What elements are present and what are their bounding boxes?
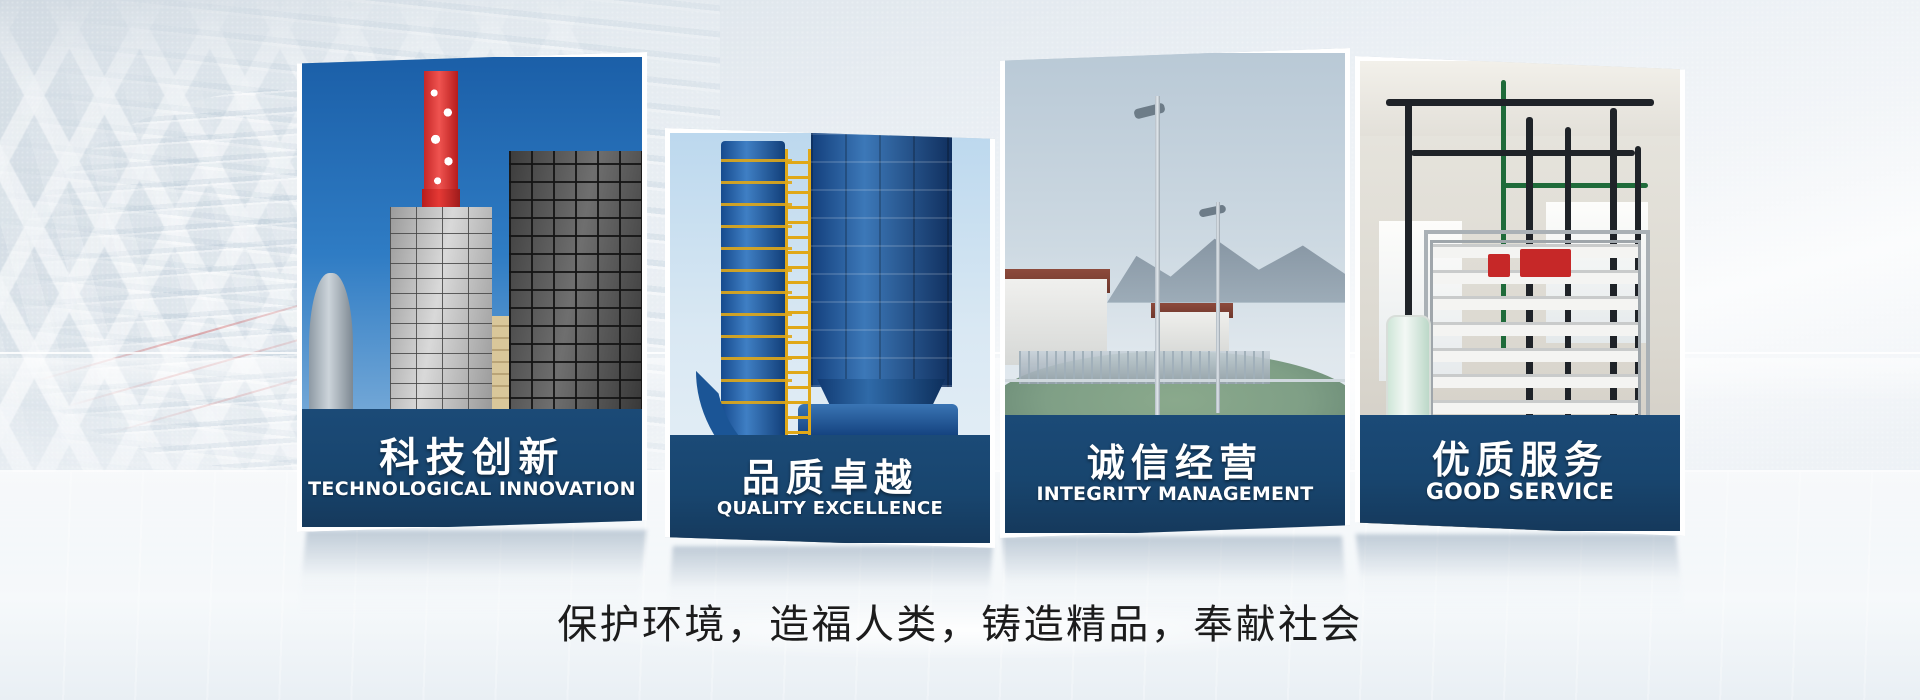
- card-label: 科技创新 TECHNOLOGICAL INNOVATION: [302, 409, 642, 527]
- card-label: 品质卓越 QUALITY EXCELLENCE: [670, 435, 990, 543]
- card-title-en: TECHNOLOGICAL INNOVATION: [308, 479, 636, 500]
- card-title-en: GOOD SERVICE: [1426, 481, 1614, 505]
- card-title-zh: 诚信经营: [1087, 444, 1263, 484]
- banner-stage: 科技创新 TECHNOLOGICAL INNOVATION 品质卓越 QUALI…: [0, 0, 1920, 700]
- card-label: 优质服务 GOOD SERVICE: [1360, 415, 1680, 531]
- card-title-en: QUALITY EXCELLENCE: [717, 499, 943, 519]
- banner-tagline: 保护环境，造福人类，铸造精品，奉献社会: [0, 592, 1920, 650]
- card-title-zh: 优质服务: [1432, 441, 1608, 481]
- card-title-zh: 品质卓越: [742, 459, 918, 499]
- card-good-service[interactable]: 优质服务 GOOD SERVICE: [1355, 56, 1685, 536]
- card-integrity-management[interactable]: 诚信经营 INTEGRITY MANAGEMENT: [1000, 48, 1350, 538]
- card-title-en: INTEGRITY MANAGEMENT: [1037, 484, 1314, 505]
- card-quality-excellence[interactable]: 品质卓越 QUALITY EXCELLENCE: [665, 128, 995, 548]
- card-label: 诚信经营 INTEGRITY MANAGEMENT: [1005, 415, 1345, 533]
- card-title-zh: 科技创新: [379, 437, 565, 479]
- card-technological-innovation[interactable]: 科技创新 TECHNOLOGICAL INNOVATION: [297, 52, 647, 532]
